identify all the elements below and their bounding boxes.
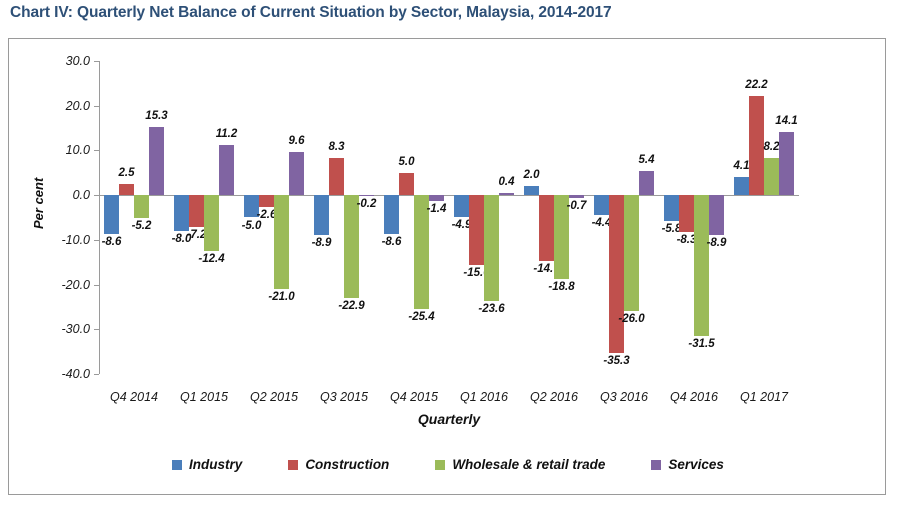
bar[interactable] xyxy=(679,195,694,232)
bar[interactable] xyxy=(694,195,709,336)
bar-value-label: 4.1 xyxy=(734,160,750,172)
bar-value-label: -1.4 xyxy=(427,203,447,215)
chart-frame: Per cent 30.020.010.00.0-10.0-20.0-30.0-… xyxy=(8,38,886,495)
bar-value-label: 8.2 xyxy=(764,141,780,153)
bar-value-label: -31.5 xyxy=(688,338,714,350)
bar-group: -8.65.0-25.4-1.4Q4 2015 xyxy=(379,61,449,374)
legend-swatch-icon xyxy=(651,460,661,470)
bar[interactable] xyxy=(594,195,609,215)
bar-value-label: 14.1 xyxy=(775,115,797,127)
x-tick-label: Q4 2014 xyxy=(110,390,158,404)
bar[interactable] xyxy=(539,195,554,261)
y-tick-label: 0.0 xyxy=(73,188,90,202)
bar[interactable] xyxy=(289,152,304,195)
legend-label: Industry xyxy=(189,457,242,472)
bar-value-label: 11.2 xyxy=(216,128,238,140)
bar[interactable] xyxy=(274,195,289,289)
bar-value-label: -22.9 xyxy=(338,300,364,312)
x-axis-title: Quarterly xyxy=(99,411,799,427)
x-tick-label: Q2 2016 xyxy=(530,390,578,404)
legend-item[interactable]: Construction xyxy=(288,457,389,472)
bar-value-label: -5.0 xyxy=(242,220,262,232)
bar[interactable] xyxy=(639,171,654,195)
bar-value-label: 15.3 xyxy=(145,110,167,122)
y-tick-label: -30.0 xyxy=(62,322,91,336)
x-tick-label: Q3 2015 xyxy=(320,390,368,404)
x-tick-label: Q1 2016 xyxy=(460,390,508,404)
bar[interactable] xyxy=(134,195,149,218)
bar[interactable] xyxy=(219,145,234,195)
bar-value-label: -25.4 xyxy=(408,311,434,323)
bar[interactable] xyxy=(499,193,514,195)
bar-value-label: -23.6 xyxy=(478,303,504,315)
bar[interactable] xyxy=(469,195,484,265)
bar[interactable] xyxy=(119,184,134,195)
bar-group: 2.0-14.7-18.8-0.7Q2 2016 xyxy=(519,61,589,374)
y-axis-title: Per cent xyxy=(31,178,46,229)
x-tick-label: Q1 2017 xyxy=(740,390,788,404)
bar-value-label: 5.0 xyxy=(399,156,415,168)
y-tick-label: 20.0 xyxy=(66,99,90,113)
bar-value-label: -8.6 xyxy=(102,236,122,248)
bar-value-label: -8.6 xyxy=(382,236,402,248)
bar-value-label: -18.8 xyxy=(548,281,574,293)
legend-swatch-icon xyxy=(288,460,298,470)
bar-group: -8.98.3-22.9-0.2Q3 2015 xyxy=(309,61,379,374)
legend-item[interactable]: Industry xyxy=(172,457,242,472)
x-tick-label: Q3 2016 xyxy=(600,390,648,404)
legend-label: Wholesale & retail trade xyxy=(452,457,605,472)
bar-value-label: 9.6 xyxy=(289,135,305,147)
bar[interactable] xyxy=(104,195,119,233)
bar[interactable] xyxy=(399,173,414,195)
y-tick-label: 10.0 xyxy=(66,143,90,157)
bar[interactable] xyxy=(174,195,189,231)
x-tick-label: Q4 2016 xyxy=(670,390,718,404)
plot-area: 30.020.010.00.0-10.0-20.0-30.0-40.0 -8.6… xyxy=(99,61,799,374)
bar[interactable] xyxy=(734,177,749,195)
bar-value-label: 5.4 xyxy=(639,154,655,166)
legend-item[interactable]: Services xyxy=(651,457,724,472)
bar-value-label: -35.3 xyxy=(603,355,629,367)
bar[interactable] xyxy=(329,158,344,195)
bar[interactable] xyxy=(359,195,374,196)
bar-value-label: 8.3 xyxy=(329,141,345,153)
bar[interactable] xyxy=(624,195,639,311)
bar-group: -5.0-2.6-21.09.6Q2 2015 xyxy=(239,61,309,374)
bar-value-label: -12.4 xyxy=(198,253,224,265)
legend-item[interactable]: Wholesale & retail trade xyxy=(435,457,605,472)
page-title: Chart IV: Quarterly Net Balance of Curre… xyxy=(10,4,612,22)
bar[interactable] xyxy=(259,195,274,207)
y-tick-label: -10.0 xyxy=(62,233,91,247)
bar-value-label: 2.5 xyxy=(119,167,135,179)
bar-value-label: 2.0 xyxy=(524,169,540,181)
bar-value-label: -0.7 xyxy=(567,200,587,212)
bar[interactable] xyxy=(344,195,359,297)
bar[interactable] xyxy=(569,195,584,198)
bar-group: -8.0-7.2-12.411.2Q1 2015 xyxy=(169,61,239,374)
bar[interactable] xyxy=(204,195,219,250)
bar-group: -4.9-15.6-23.60.4Q1 2016 xyxy=(449,61,519,374)
bar[interactable] xyxy=(314,195,329,235)
bar-group: 4.122.28.214.1Q1 2017 xyxy=(729,61,799,374)
x-tick-label: Q1 2015 xyxy=(180,390,228,404)
bar-value-label: 0.4 xyxy=(499,176,515,188)
bar[interactable] xyxy=(429,195,444,201)
bar-value-label: -26.0 xyxy=(618,313,644,325)
y-tick-label: -40.0 xyxy=(62,367,91,381)
bar[interactable] xyxy=(149,127,164,195)
bar[interactable] xyxy=(484,195,499,301)
legend-swatch-icon xyxy=(435,460,445,470)
bar-group: -8.62.5-5.215.3Q4 2014 xyxy=(99,61,169,374)
bar[interactable] xyxy=(779,132,794,195)
bar[interactable] xyxy=(524,186,539,195)
x-tick-label: Q4 2015 xyxy=(390,390,438,404)
bar[interactable] xyxy=(384,195,399,233)
bar[interactable] xyxy=(454,195,469,217)
bar[interactable] xyxy=(709,195,724,235)
bar-group: -4.4-35.3-26.05.4Q3 2016 xyxy=(589,61,659,374)
bar-value-label: -8.9 xyxy=(312,237,332,249)
legend-swatch-icon xyxy=(172,460,182,470)
bar-value-label: -8.9 xyxy=(707,237,727,249)
bar-value-label: 22.2 xyxy=(745,79,767,91)
bar[interactable] xyxy=(664,195,679,221)
x-tick-label: Q2 2015 xyxy=(250,390,298,404)
bar-value-label: -5.2 xyxy=(132,220,152,232)
bar-value-label: -21.0 xyxy=(268,291,294,303)
y-tick-label: -20.0 xyxy=(62,278,91,292)
legend-label: Construction xyxy=(305,457,389,472)
bar-value-label: -0.2 xyxy=(357,198,377,210)
chart-legend: IndustryConstructionWholesale & retail t… xyxy=(9,457,887,472)
bar[interactable] xyxy=(764,158,779,195)
y-tick-mark xyxy=(94,374,99,375)
bar[interactable] xyxy=(609,195,624,353)
bar-group: -5.8-8.3-31.5-8.9Q4 2016 xyxy=(659,61,729,374)
bar[interactable] xyxy=(749,96,764,195)
legend-label: Services xyxy=(668,457,724,472)
bar[interactable] xyxy=(189,195,204,227)
y-tick-label: 30.0 xyxy=(66,54,90,68)
